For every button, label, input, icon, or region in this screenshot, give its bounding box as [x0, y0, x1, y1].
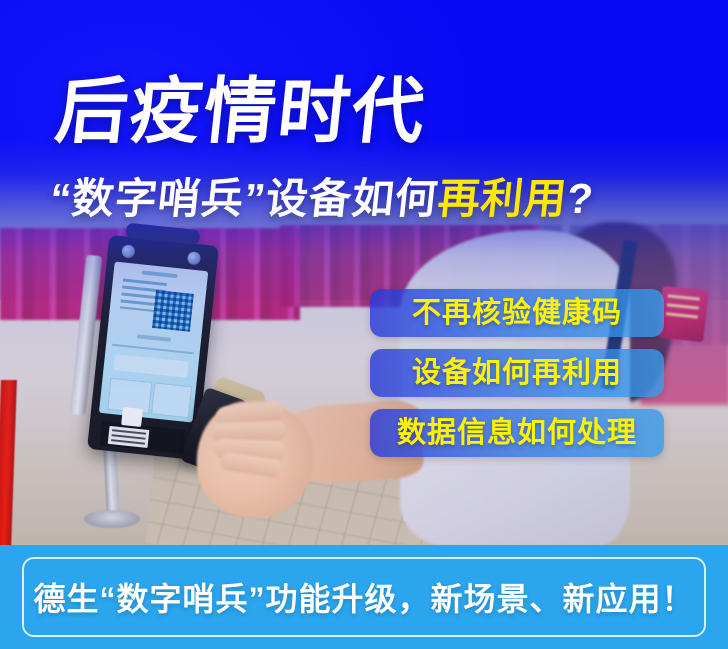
subtitle-prefix: “数字哨兵”设备如何 [48, 175, 441, 222]
subtitle-accent: 再利用 [436, 175, 570, 222]
feature-pill-label: 数据信息如何处理 [397, 419, 637, 448]
feature-pill-health-code[interactable]: 不再核验健康码 [370, 289, 664, 337]
feature-pill-label: 不再核验健康码 [412, 299, 622, 328]
feature-pill-list: 不再核验健康码 设备如何再利用 数据信息如何处理 [370, 289, 666, 469]
bottom-banner: 德生“数字哨兵”功能升级，新场景、新应用！ [0, 545, 728, 649]
bottom-banner-text: 德生“数字哨兵”功能升级，新场景、新应用！ [33, 574, 694, 620]
page-subtitle: “数字哨兵”设备如何再利用? [48, 178, 596, 220]
page-title: 后疫情时代 [52, 76, 430, 148]
feature-pill-data-handling[interactable]: 数据信息如何处理 [370, 409, 664, 457]
subtitle-suffix: ? [565, 175, 597, 222]
feature-pill-device-reuse[interactable]: 设备如何再利用 [370, 349, 664, 397]
feature-pill-label: 设备如何再利用 [412, 359, 622, 388]
poster-root: 后疫情时代 “数字哨兵”设备如何再利用? 不再核验健康码 设备如何再利用 数据信… [0, 0, 728, 649]
